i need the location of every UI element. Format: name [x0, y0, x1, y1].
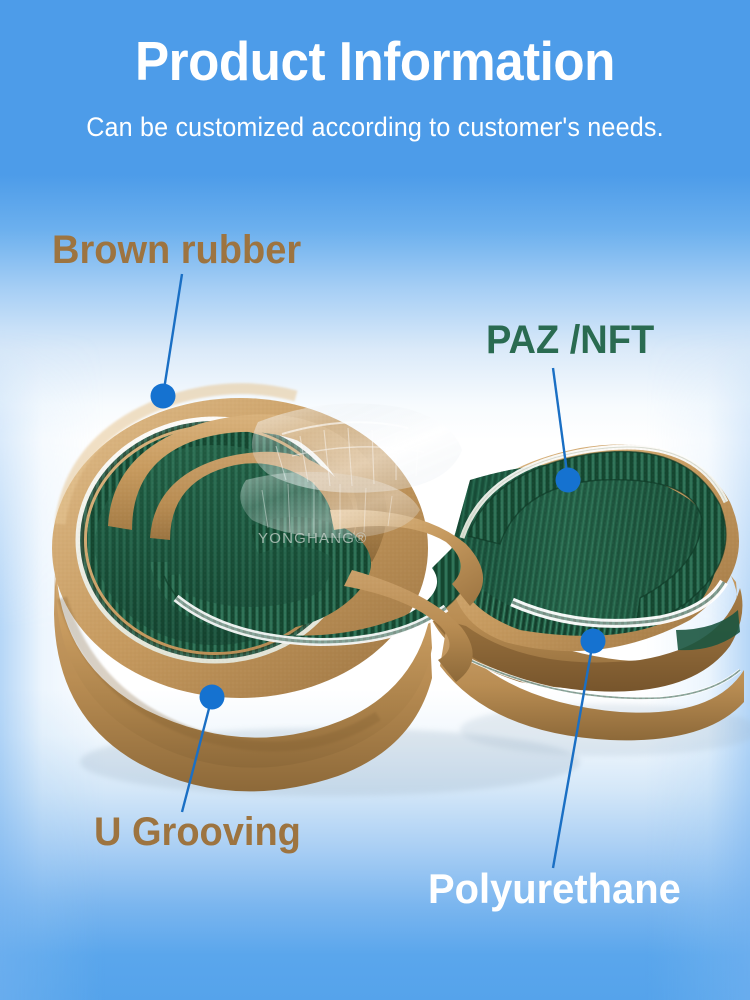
leader-line-brown-rubber [163, 274, 182, 396]
callout-dot-paz-nft [556, 468, 581, 493]
callout-dot-u-grooving [200, 685, 225, 710]
leader-line-polyurethane [553, 641, 593, 868]
callout-label-polyurethane: Polyurethane [428, 864, 681, 914]
callout-dot-brown-rubber [151, 384, 176, 409]
leader-line-paz-nft [553, 368, 568, 480]
callout-dot-polyurethane [581, 629, 606, 654]
leader-line-u-grooving [182, 697, 212, 812]
product-information-page: Product Information Can be customized ac… [0, 0, 750, 1000]
callout-label-u-grooving: U Grooving [94, 808, 301, 856]
callout-label-paz-nft: PAZ /NFT [486, 316, 654, 364]
callout-layer: Brown rubber PAZ /NFT U Grooving Polyure… [0, 0, 750, 1000]
callout-label-brown-rubber: Brown rubber [52, 226, 301, 274]
